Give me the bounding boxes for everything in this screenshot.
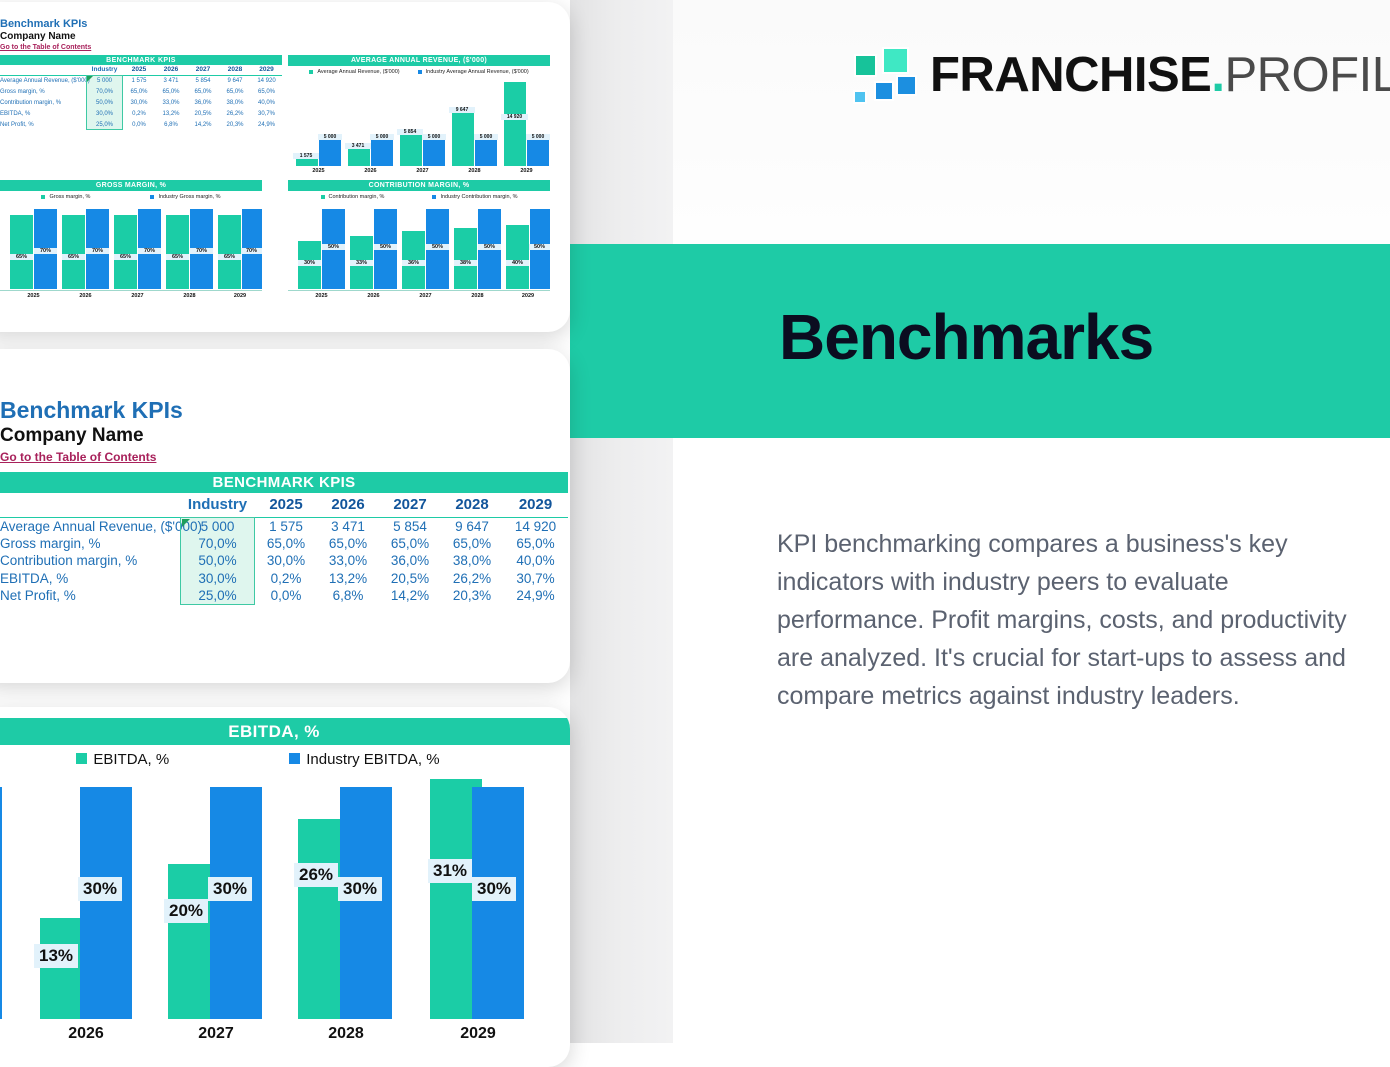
bar-label: 26%: [294, 863, 338, 887]
legend-swatch-blue: [432, 195, 436, 199]
logo-wordmark: FRANCHISE.PROFILES: [930, 51, 1390, 100]
page-description: KPI benchmarking compares a business's k…: [777, 525, 1367, 715]
chart-plot-area: 30% 50% 33% 50% 36% 50% 38% 50% 40% 50%: [288, 207, 550, 289]
legend-item-industry: Industry Gross margin, %: [150, 194, 220, 200]
chart-legend: Contribution margin, % Industry Contribu…: [288, 194, 550, 200]
legend-item-series: EBITDA, %: [76, 751, 169, 768]
chart-title: EBITDA, %: [0, 718, 570, 745]
legend-item-industry: Industry Average Annual Revenue, ($'000): [418, 69, 529, 75]
toc-link[interactable]: Go to the Table of Contents: [0, 448, 183, 466]
table-row: Average Annual Revenue, ($'000) 5 000 1 …: [0, 75, 282, 86]
legend-swatch-green: [321, 195, 325, 199]
sheet-title: Benchmark KPIs: [0, 396, 183, 424]
sheet-header-small: Benchmark KPIs Company Name Go to the Ta…: [0, 18, 91, 53]
chart-plot-area: 30% 13% 30% 20% 30% 26% 30% 31% 30%: [0, 779, 570, 1019]
bar-industry: [340, 787, 392, 1019]
bar-industry: [80, 787, 132, 1019]
bar-industry: [475, 138, 497, 166]
bar-label: 31%: [428, 859, 472, 883]
chart-x-axis: 2025 2026 2027 2028 2029: [0, 293, 262, 303]
chart-title: CONTRIBUTION MARGIN, %: [288, 180, 550, 191]
bar-series: [452, 111, 474, 166]
table-row: Average Annual Revenue, ($'000) 5 000 1 …: [0, 517, 568, 535]
logo-dot: .: [1211, 48, 1224, 102]
bar-series: [62, 215, 85, 289]
chart-baseline: [288, 290, 550, 291]
bar-label: 20%: [164, 899, 208, 923]
bar-label: 65%: [62, 254, 85, 260]
logo-square-blue-large: [896, 75, 917, 96]
legend-swatch-blue: [150, 195, 154, 199]
bar-series: [218, 215, 241, 289]
chart-legend: Average Annual Revenue, ($'000) Industry…: [288, 69, 550, 75]
bar-industry: [0, 787, 2, 1019]
logo-word-franchise: FRANCHISE: [930, 48, 1211, 102]
bar-label: 3 471: [345, 143, 371, 149]
table-row: Contribution margin, % 50,0% 30,0% 33,0%…: [0, 552, 568, 570]
franchise-profiles-logo: FRANCHISE.PROFILES: [852, 44, 1390, 106]
bar-label: 70%: [86, 248, 109, 254]
table-row: EBITDA, % 30,0% 0,2% 13,2% 20,5% 26,2% 3…: [0, 108, 282, 119]
chart-legend: EBITDA, % Industry EBITDA, %: [0, 751, 538, 768]
bar-label: 30%: [78, 877, 122, 901]
sheet-subtitle: Company Name: [0, 31, 91, 43]
bar-industry: [210, 787, 262, 1019]
legend-item-industry: Industry EBITDA, %: [289, 751, 439, 768]
legend-item-series: Gross margin, %: [41, 194, 90, 200]
chart-legend: Gross margin, % Industry Gross margin, %: [0, 194, 262, 200]
bar-label: 65%: [10, 254, 33, 260]
chart-title: AVERAGE ANNUAL REVENUE, ($'000): [288, 55, 550, 66]
chart-plot-area: 65% 70% 65% 70% 65% 70% 65% 70% 65% 70%: [0, 207, 262, 289]
legend-swatch-green: [41, 195, 45, 199]
spreadsheet-card-ebitda-chart[interactable]: EBITDA, % EBITDA, % Industry EBITDA, % 3…: [0, 707, 570, 1067]
legend-item-series: Average Annual Revenue, ($'000): [309, 69, 399, 75]
bar-label: 5 000: [526, 134, 550, 140]
bar-label: 5 854: [397, 129, 423, 135]
table-band-row: BENCHMARK KPIS: [0, 472, 568, 493]
bar-series: [400, 133, 422, 166]
bar-label: 36%: [402, 260, 425, 266]
bar-label: 9 647: [449, 107, 475, 113]
legend-swatch-green: [76, 753, 87, 764]
bar-label: 50%: [322, 244, 345, 250]
bar-series: [506, 225, 529, 289]
bar-label: 65%: [114, 254, 137, 260]
bar-label: 30%: [472, 877, 516, 901]
sheet-subtitle: Company Name: [0, 424, 183, 448]
bar-label: 14 920: [501, 114, 528, 120]
bar-label: 30%: [298, 260, 321, 266]
page-title: Benchmarks: [779, 305, 1153, 369]
kpi-table-large: BENCHMARK KPIS Industry 2025 2026 2027 2…: [0, 472, 568, 605]
bar-series: [454, 228, 477, 289]
logo-square-blue-small: [853, 90, 867, 104]
bar-series: [10, 215, 33, 289]
bar-label: 5 000: [422, 134, 446, 140]
bar-label: 70%: [241, 248, 262, 254]
chart-plot-area: 1 575 5 000 3 471 5 000 5 854 5 000 9 64…: [288, 81, 550, 166]
legend-swatch-green: [309, 70, 313, 74]
cell-comment-marker-icon: [182, 519, 190, 527]
background-gray-column: [570, 0, 673, 1043]
logo-squares-icon: [852, 46, 914, 104]
chart-average-annual-revenue-small: AVERAGE ANNUAL REVENUE, ($'000) Average …: [288, 55, 570, 185]
bar-label: 70%: [34, 248, 57, 254]
legend-swatch-blue: [289, 753, 300, 764]
table-band-row: BENCHMARK KPIS: [0, 55, 282, 65]
bar-label: 30%: [208, 877, 252, 901]
table-header-row: Industry 2025 2026 2027 2028 2029: [0, 65, 282, 75]
bar-label: 5 000: [318, 134, 342, 140]
bar-industry: [371, 138, 393, 166]
bar-label: 5 000: [370, 134, 394, 140]
chart-x-axis: 2025 2026 2027 2028 2029: [288, 168, 550, 178]
legend-swatch-blue: [418, 70, 422, 74]
chart-x-axis: 2025 2026 2027 2028 2029: [288, 293, 550, 303]
kpi-table-small: BENCHMARK KPIS Industry 2025 2026 2027 2…: [0, 55, 282, 130]
bar-label: 70%: [190, 248, 213, 254]
chart-baseline: [0, 290, 262, 291]
bar-series: [114, 215, 137, 289]
bar-industry: [319, 138, 341, 166]
table-header-row: Industry 2025 2026 2027 2028 2029: [0, 493, 568, 517]
chart-gross-margin-small: GROSS MARGIN, % Gross margin, % Industry…: [0, 180, 282, 320]
bar-label: 40%: [506, 260, 529, 266]
chart-contribution-margin-small: CONTRIBUTION MARGIN, % Contribution marg…: [288, 180, 570, 320]
bar-label: 30%: [338, 877, 382, 901]
bar-label: 50%: [529, 244, 550, 250]
bar-series: [166, 215, 189, 289]
spreadsheet-card-overview[interactable]: Benchmark KPIs Company Name Go to the Ta…: [0, 2, 570, 332]
table-row: Contribution margin, % 50,0% 30,0% 33,0%…: [0, 97, 282, 108]
bar-label: 65%: [166, 254, 189, 260]
background-right-panel: [673, 0, 1390, 1043]
bar-industry: [472, 787, 524, 1019]
chart-title: GROSS MARGIN, %: [0, 180, 262, 191]
bar-label: 50%: [478, 244, 501, 250]
chart-x-axis: 2026 2027 2028 2029: [0, 1025, 570, 1049]
table-row: EBITDA, % 30,0% 0,2% 13,2% 20,5% 26,2% 3…: [0, 570, 568, 588]
logo-square-blue-mid: [874, 81, 894, 101]
bar-industry: [423, 138, 445, 166]
bar-label: 5 000: [474, 134, 498, 140]
bar-label: 1 575: [293, 153, 319, 159]
legend-item-series: Contribution margin, %: [321, 194, 385, 200]
table-row: Gross margin, % 70,0% 65,0% 65,0% 65,0% …: [0, 86, 282, 97]
bar-industry: [527, 138, 549, 166]
table-row: Gross margin, % 70,0% 65,0% 65,0% 65,0% …: [0, 535, 568, 553]
spreadsheet-card-kpi-table[interactable]: Benchmark KPIs Company Name Go to the Ta…: [0, 349, 570, 683]
bar-label: 65%: [218, 254, 241, 260]
bar-label: 50%: [426, 244, 449, 250]
bar-label: 33%: [350, 260, 373, 266]
bar-label: 38%: [454, 260, 477, 266]
logo-word-profiles: PROFILES: [1224, 48, 1390, 102]
bar-label: 70%: [138, 248, 161, 254]
bar-label: 13%: [34, 944, 78, 968]
toc-link[interactable]: Go to the Table of Contents: [0, 43, 91, 53]
table-row: Net Profit, % 25,0% 0,0% 6,8% 14,2% 20,3…: [0, 587, 568, 605]
logo-square-teal-light: [882, 47, 909, 74]
bar-label: 50%: [374, 244, 397, 250]
bar-series: [348, 147, 370, 166]
logo-square-teal-dark: [854, 54, 877, 77]
table-row: Net Profit, % 25,0% 0,0% 6,8% 14,2% 20,3…: [0, 119, 282, 130]
cell-comment-marker-icon: [87, 76, 93, 82]
bar-series: [504, 82, 526, 166]
sheet-title: Benchmark KPIs: [0, 18, 91, 31]
legend-item-industry: Industry Contribution margin, %: [432, 194, 517, 200]
sheet-header-large: Benchmark KPIs Company Name Go to the Ta…: [0, 396, 183, 466]
